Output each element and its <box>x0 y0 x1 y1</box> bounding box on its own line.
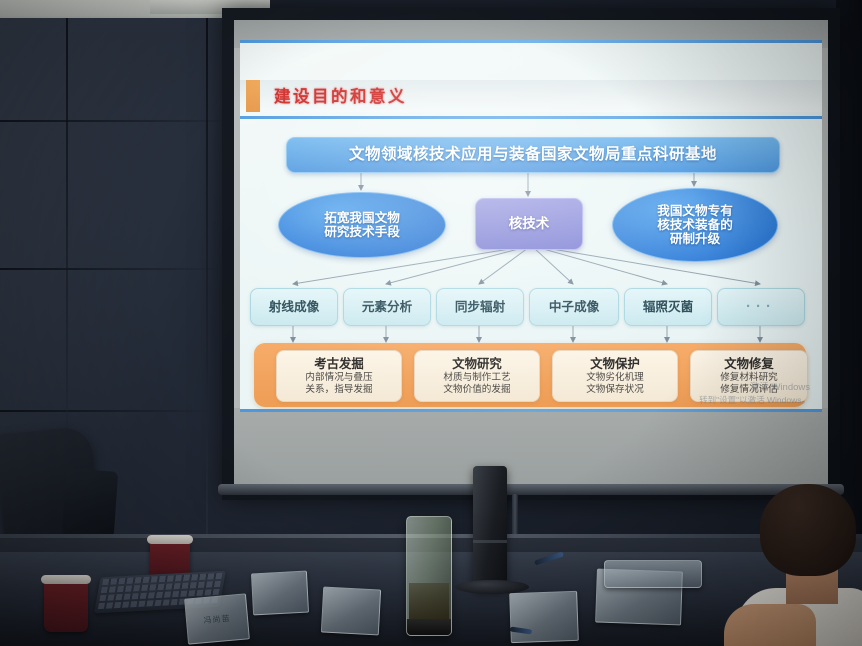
office-chair-secondary <box>62 468 118 537</box>
outcome-card-2: 文物研究 材质与制作工艺 文物价值的发掘 <box>414 350 540 402</box>
outcome-heading: 文物保护 <box>590 357 640 372</box>
screen-surface: 建设目的和意义 <box>234 20 828 488</box>
technique-box-2: 元素分析 <box>343 288 431 326</box>
root-label: 文物领域核技术应用与装备国家文物局重点科研基地 <box>349 146 717 163</box>
nameplate <box>509 591 579 643</box>
tea-leaves <box>409 583 449 621</box>
meeting-room-scene: 建设目的和意义 <box>0 0 862 646</box>
diagram-root-node: 文物领域核技术应用与装备国家文物局重点科研基地 <box>286 137 780 173</box>
technique-box-4: 中子成像 <box>529 288 619 326</box>
technique-label: 同步辐射 <box>455 300 505 314</box>
seated-attendee <box>742 484 862 646</box>
watermark-line-1: 激活 Windows <box>699 382 810 395</box>
thermos-band <box>473 540 507 543</box>
windows-activation-watermark: 激活 Windows 转到"设置"以激活 Windows。 <box>699 382 810 406</box>
outcome-line-1: 材质与制作工艺 <box>443 372 510 384</box>
tumbler-cap <box>407 619 451 635</box>
thermos-bottle <box>473 466 507 590</box>
technique-label: 元素分析 <box>362 300 412 314</box>
diagram-goal-right: 我国文物专有 核技术装备的 研制升级 <box>612 188 778 262</box>
nameplate: 冯尚苗 <box>184 593 250 644</box>
outcome-line-1: 内部情况与叠压 <box>305 372 372 384</box>
glass-tea-tumbler <box>406 516 452 636</box>
outcome-card-1: 考古发掘 内部情况与叠压 关系，指导发掘 <box>276 350 402 402</box>
outcome-heading: 文物修复 <box>724 357 774 372</box>
outcome-line-2: 文物保存状况 <box>586 384 644 396</box>
outcome-card-3: 文物保护 文物劣化机理 文物保存状况 <box>552 350 678 402</box>
nameplate-text: 冯尚苗 <box>203 612 231 625</box>
outcome-heading: 考古发掘 <box>314 357 364 372</box>
outcome-heading: 文物研究 <box>452 357 502 372</box>
tablet-device <box>604 560 702 588</box>
technique-box-more: ··· <box>717 288 805 326</box>
outcome-line-2: 文物价值的发掘 <box>443 384 510 396</box>
technique-box-3: 同步辐射 <box>436 288 524 326</box>
watermark-line-2: 转到"设置"以激活 Windows。 <box>699 395 810 406</box>
technique-label: 射线成像 <box>269 300 319 314</box>
cup-rim <box>147 535 193 544</box>
outcome-line-2: 关系，指导发掘 <box>305 384 372 396</box>
projection-letterbox-bottom <box>234 408 828 488</box>
attendee-head <box>760 484 856 576</box>
cup-rim <box>41 575 91 584</box>
paper-cup <box>44 580 88 632</box>
nameplate <box>321 587 381 636</box>
core-label: 核技术 <box>509 216 550 231</box>
attendee-arm <box>724 604 816 646</box>
diagram-goal-left: 拓宽我国文物 研究技术手段 <box>278 192 446 258</box>
technique-box-5: 辐照灭菌 <box>624 288 712 326</box>
wall-vertical-seam <box>206 18 208 538</box>
technique-label: 中子成像 <box>549 300 599 314</box>
technique-ellipsis-label: ··· <box>746 299 776 316</box>
diagram-core-node: 核技术 <box>475 198 583 250</box>
goal-right-label: 我国文物专有 核技术装备的 研制升级 <box>657 204 733 246</box>
technique-label: 辐照灭菌 <box>643 300 693 314</box>
goal-left-label: 拓宽我国文物 研究技术手段 <box>324 211 400 239</box>
projection-screen: 建设目的和意义 <box>222 8 840 500</box>
outcome-line-1: 文物劣化机理 <box>586 372 644 384</box>
nameplate <box>251 571 309 616</box>
presentation-slide: 建设目的和意义 <box>240 40 822 412</box>
technique-box-1: 射线成像 <box>250 288 338 326</box>
